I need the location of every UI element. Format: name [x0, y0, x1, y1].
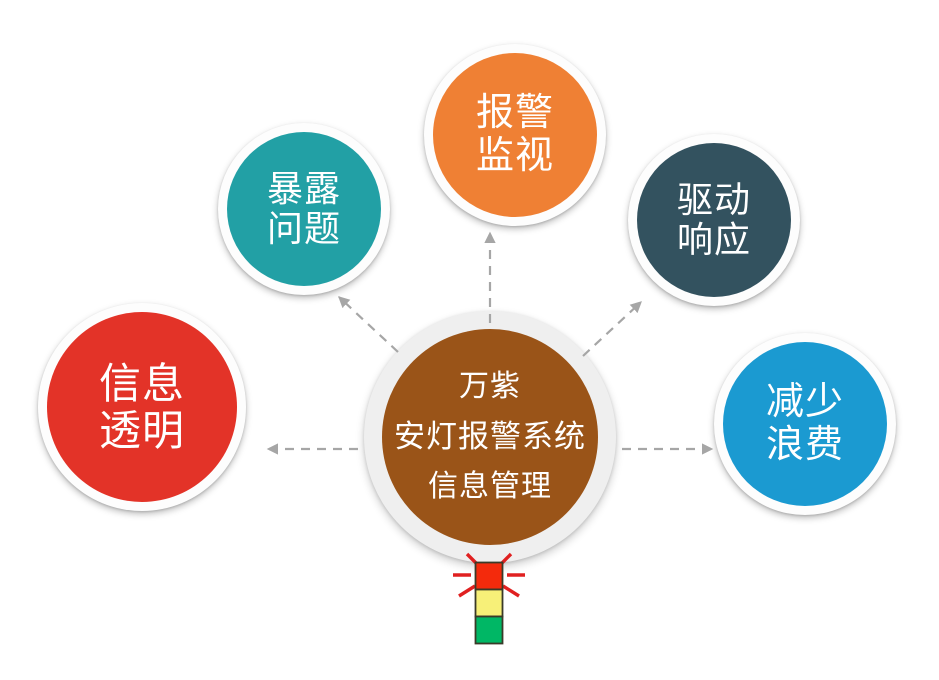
- node-labels: 信息 透明: [99, 360, 185, 454]
- red-lamp: [476, 563, 503, 590]
- node-reduce-waste[interactable]: 减少 浪费: [714, 333, 896, 515]
- center-label-line2: 安灯报警系统: [394, 420, 586, 455]
- andon-stack-light-icon: [437, 545, 541, 650]
- node-labels: 暴露 问题: [267, 169, 341, 250]
- center-labels: 万紫 安灯报警系统 信息管理: [394, 370, 586, 504]
- green-lamp: [476, 617, 503, 644]
- node-label-line1: 暴露: [267, 169, 341, 209]
- node-labels: 报警 监视: [476, 92, 554, 177]
- diagram-canvas: 报警 监视 暴露 问题 驱动 响应 信息 透明 减少: [0, 0, 939, 680]
- node-label-line2: 响应: [677, 220, 751, 260]
- node-expose-problem[interactable]: 暴露 问题: [218, 123, 390, 295]
- connector-to-expose-problem: [339, 297, 398, 352]
- lamp-stack: [476, 563, 503, 644]
- center-label-line1: 万紫: [459, 370, 521, 404]
- center-hub-node[interactable]: 万紫 安灯报警系统 信息管理: [364, 311, 616, 563]
- node-label-line1: 信息: [99, 360, 185, 407]
- center-label-line3: 信息管理: [428, 470, 552, 504]
- node-labels: 驱动 响应: [677, 180, 751, 261]
- node-label-line2: 浪费: [766, 424, 844, 467]
- node-label-line1: 报警: [476, 92, 554, 135]
- node-label-line2: 透明: [99, 407, 185, 454]
- node-label-line2: 问题: [267, 209, 341, 249]
- node-drive-response[interactable]: 驱动 响应: [628, 134, 800, 306]
- yellow-lamp: [476, 590, 503, 617]
- node-label-line1: 驱动: [677, 180, 751, 220]
- node-labels: 减少 浪费: [766, 381, 844, 466]
- node-label-line1: 减少: [766, 381, 844, 424]
- node-alarm-monitor[interactable]: 报警 监视: [424, 44, 606, 226]
- node-info-transparent[interactable]: 信息 透明: [38, 303, 246, 511]
- node-label-line2: 监视: [476, 135, 554, 178]
- connector-to-drive-response: [583, 302, 641, 356]
